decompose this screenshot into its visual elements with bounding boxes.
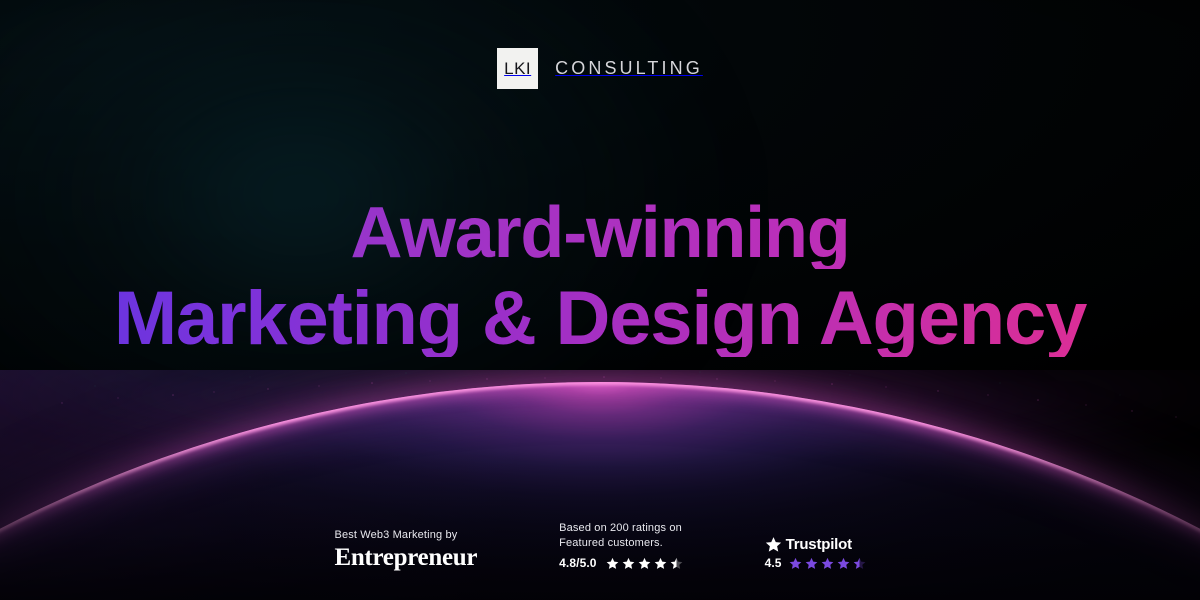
- rating-star-icon: [670, 557, 683, 570]
- badge-entrepreneur: Best Web3 Marketing by Entrepreneur: [334, 528, 477, 570]
- logo-wordmark: CONSULTING: [538, 48, 703, 89]
- trust-badges-row: Best Web3 Marketing by Entrepreneur Base…: [0, 521, 1200, 570]
- featured-customers-line-2: Featured customers.: [559, 536, 682, 551]
- featured-customers-rating-row: 4.8/5.0: [559, 556, 682, 570]
- headline-line-1: Award-winning: [0, 197, 1200, 269]
- header: LKI CONSULTING: [0, 48, 1200, 89]
- rating-star-icon: [638, 557, 651, 570]
- rating-star-icon: [654, 557, 667, 570]
- featured-customers-line-1: Based on 200 ratings on: [559, 521, 682, 536]
- trustpilot-stars: [789, 557, 866, 570]
- rating-star-icon: [853, 557, 866, 570]
- hero-headline: Award-winning Marketing & Design Agency: [0, 197, 1200, 357]
- badge-featured-customers: Based on 200 ratings on Featured custome…: [559, 521, 682, 570]
- brand-logo[interactable]: LKI CONSULTING: [497, 48, 703, 89]
- trustpilot-wordmark: Trustpilot: [786, 536, 852, 553]
- badge-trustpilot[interactable]: Trustpilot 4.5: [765, 536, 866, 570]
- rating-star-icon: [606, 557, 619, 570]
- entrepreneur-kicker: Best Web3 Marketing by: [334, 528, 477, 543]
- rating-star-icon: [805, 557, 818, 570]
- trustpilot-header: Trustpilot: [765, 536, 866, 553]
- headline-line-2: Marketing & Design Agency: [0, 281, 1200, 357]
- trustpilot-rating-row: 4.5: [765, 556, 866, 570]
- rating-star-icon: [821, 557, 834, 570]
- trustpilot-star-icon: [765, 536, 782, 553]
- rating-star-icon: [622, 557, 635, 570]
- rating-star-icon: [837, 557, 850, 570]
- trustpilot-rating-value: 4.5: [765, 556, 782, 570]
- featured-customers-stars: [606, 557, 683, 570]
- logo-mark: LKI: [497, 48, 538, 89]
- hero-section: LKI CONSULTING Award-winning Marketing &…: [0, 0, 1200, 600]
- rating-star-icon: [789, 557, 802, 570]
- featured-customers-rating-value: 4.8/5.0: [559, 556, 596, 570]
- entrepreneur-wordmark: Entrepreneur: [334, 545, 477, 570]
